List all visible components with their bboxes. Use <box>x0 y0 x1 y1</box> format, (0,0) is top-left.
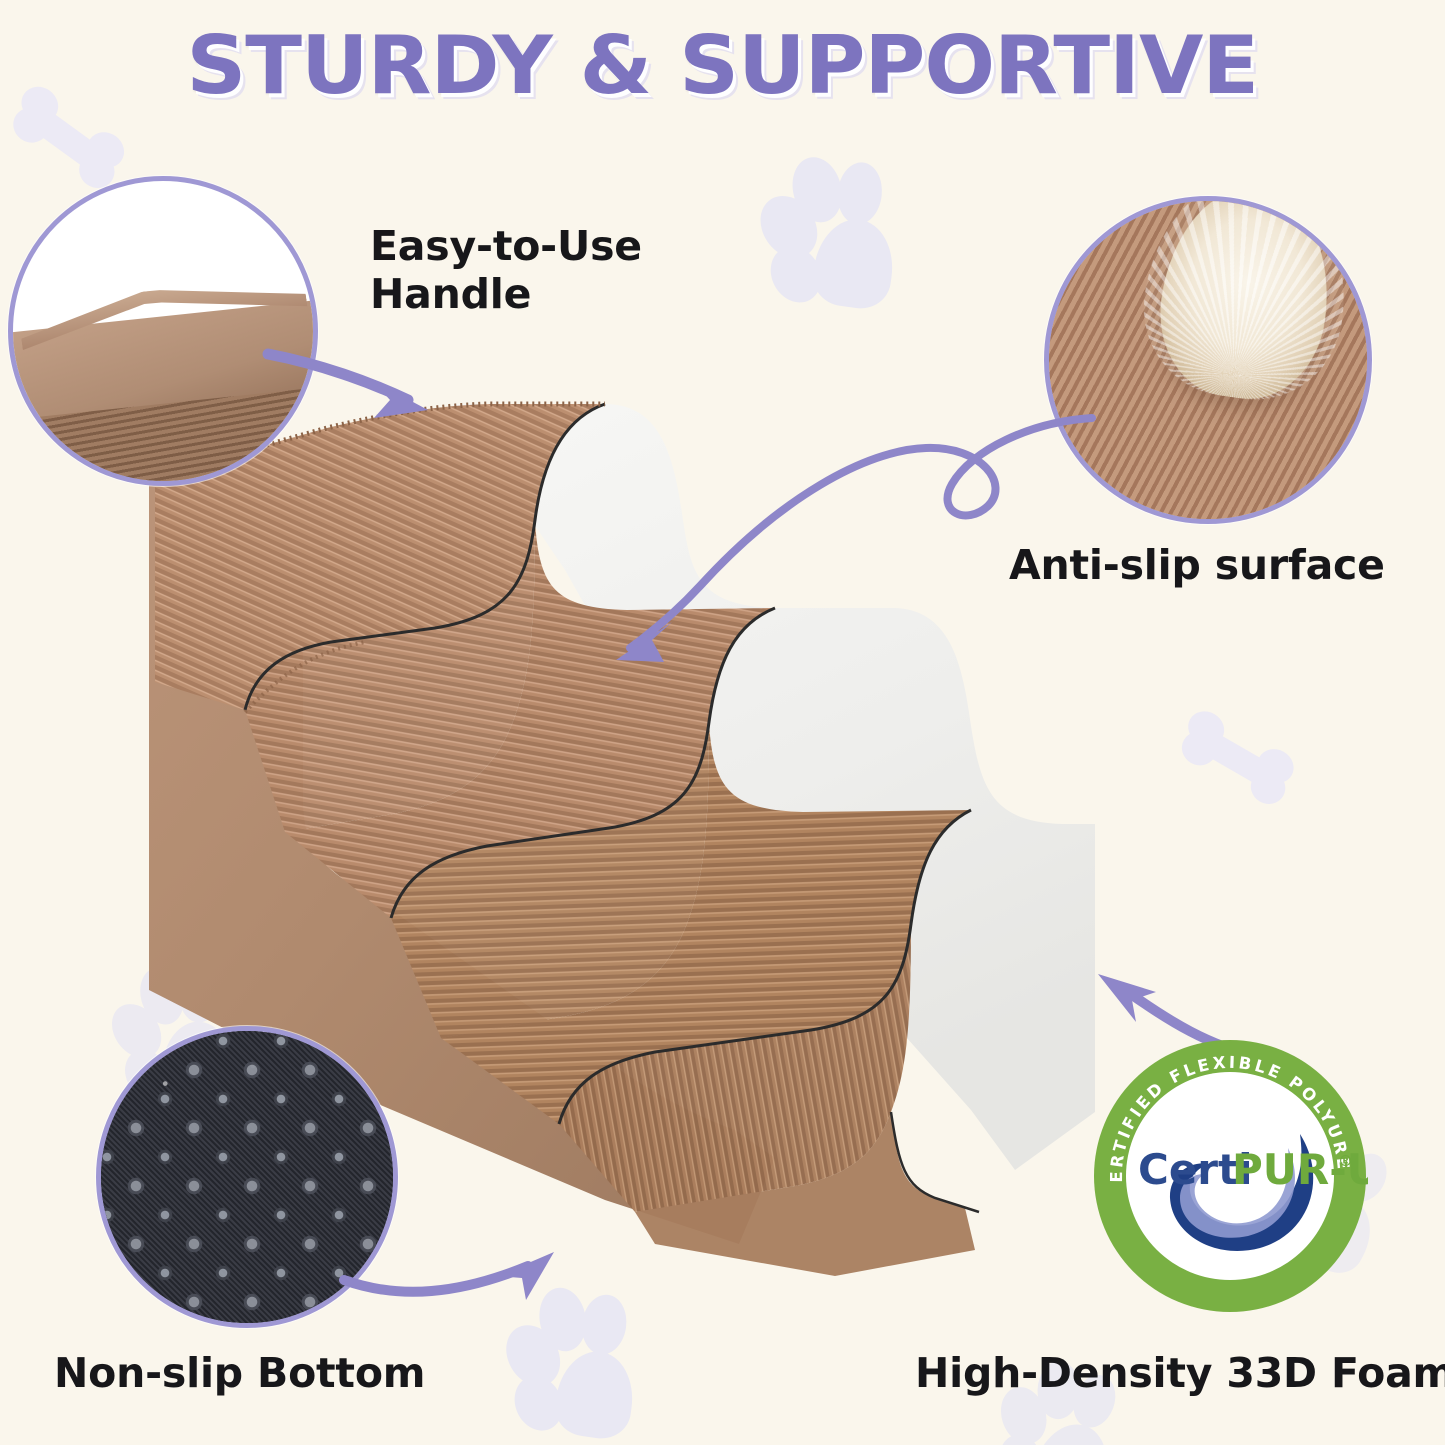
page-title-text: STURDY & SUPPORTIVE <box>187 26 1259 106</box>
arrow-handle-to-product <box>250 318 470 428</box>
certipur-us-badge: CONTAINS CERTIFIED FLEXIBLE POLYURETHANE… <box>1092 1038 1368 1314</box>
handle-label-line-1: Easy-to-Use <box>370 222 700 270</box>
nonslip-label: Non-slip Bottom <box>54 1349 425 1397</box>
infographic-canvas: STURDY & SUPPORTIVE <box>0 0 1445 1445</box>
foam-label: High-Density 33D Foam <box>915 1349 1445 1397</box>
arrow-nonslip-to-base <box>330 1218 590 1308</box>
paw-watermark <box>733 140 920 332</box>
handle-label-line-2: Handle <box>370 270 700 318</box>
antislip-label: Anti-slip surface <box>1009 541 1385 589</box>
page-title: STURDY & SUPPORTIVE <box>0 26 1445 106</box>
badge-center-wordmark: Certi PUR-US ® <box>1138 1145 1368 1194</box>
badge-registered-mark: ® <box>1338 1152 1353 1170</box>
handle-label: Easy-to-Use Handle <box>370 222 700 319</box>
bone-watermark <box>1163 687 1311 826</box>
